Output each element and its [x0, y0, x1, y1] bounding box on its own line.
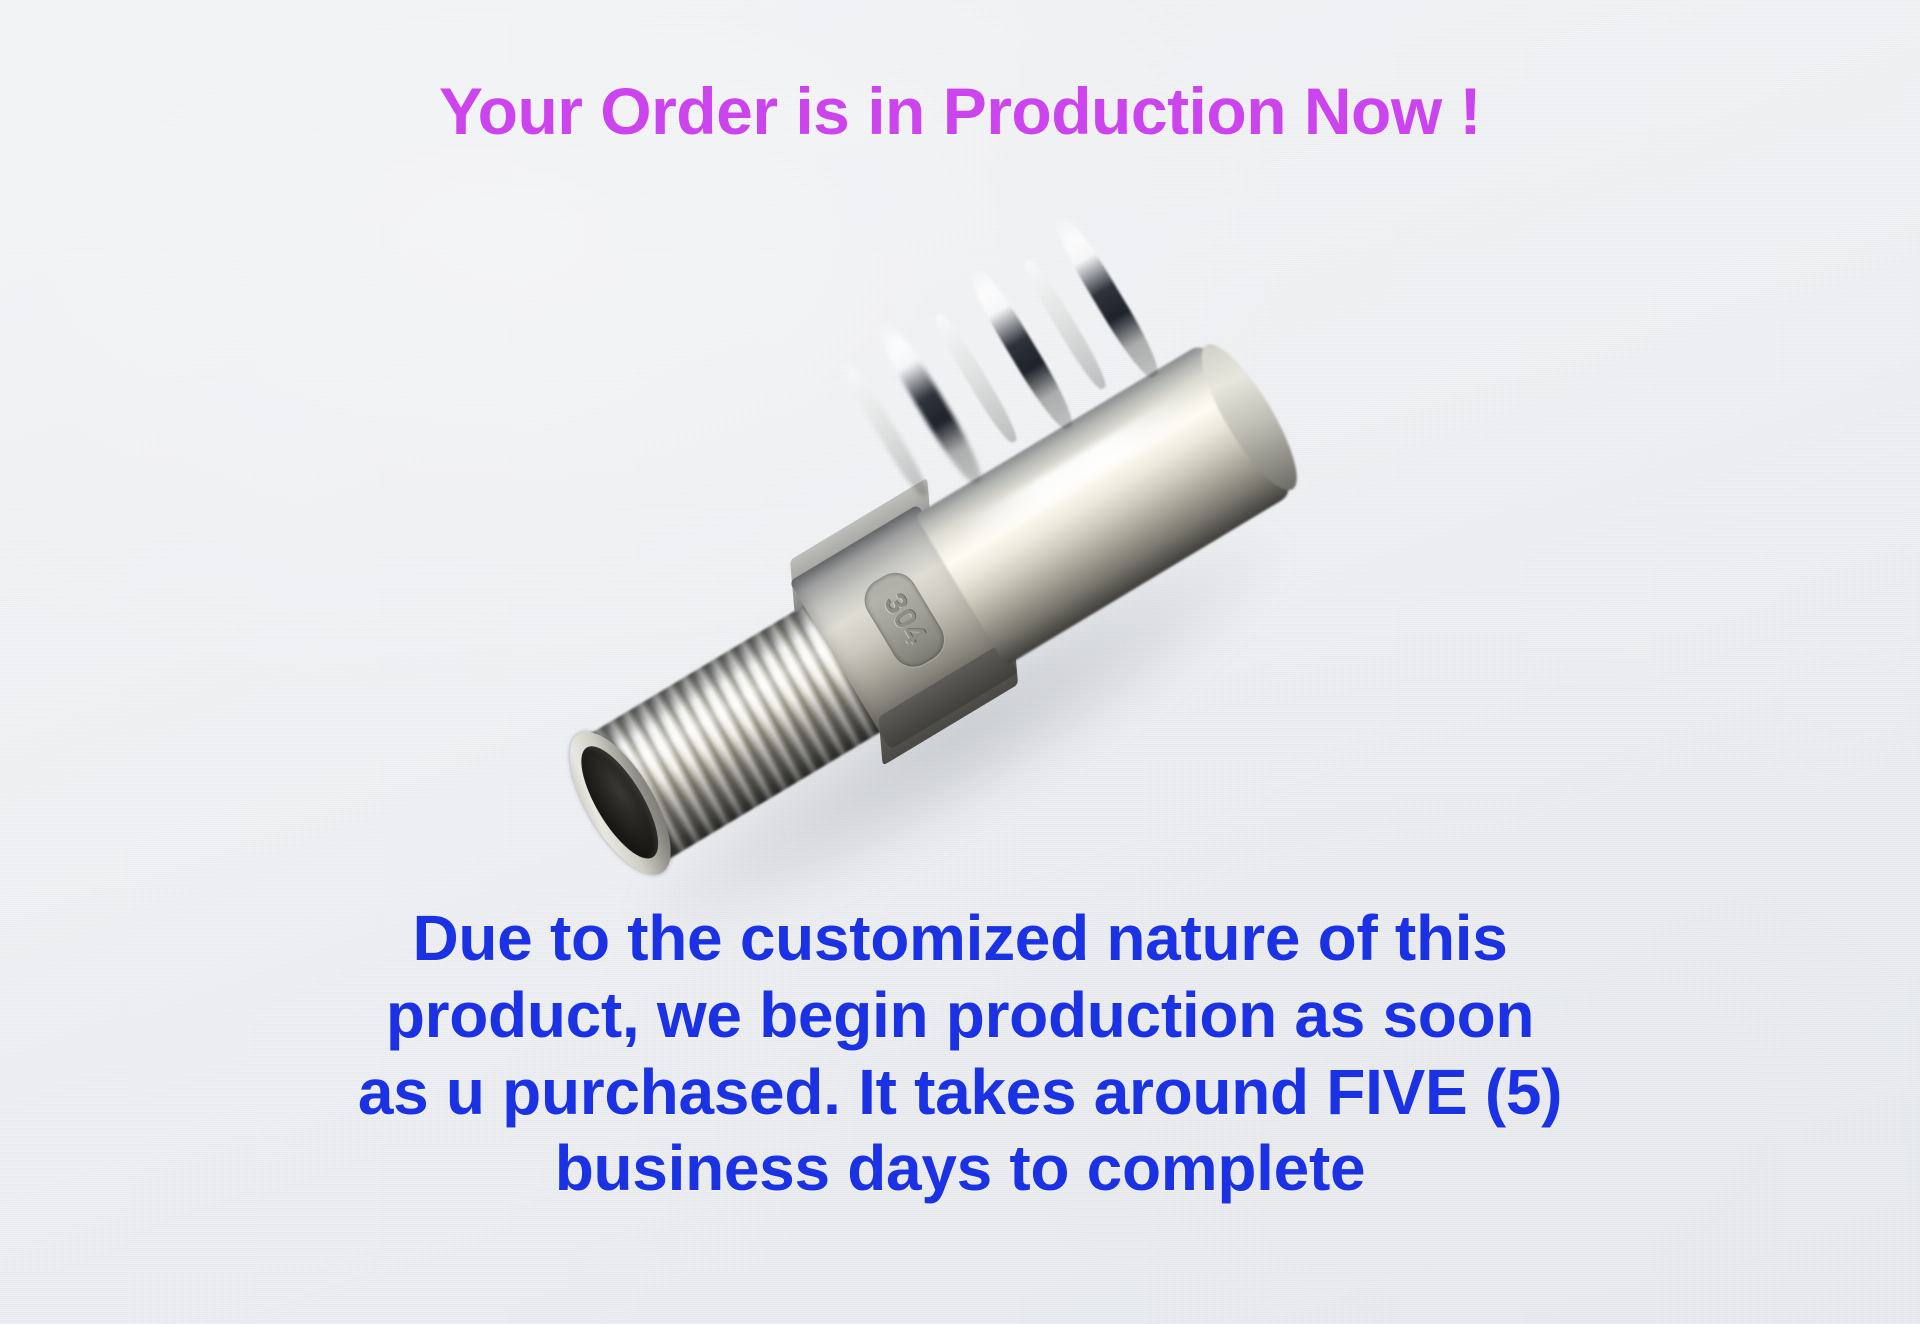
headline-text: Your Order is in Production Now ! [0, 78, 1920, 145]
body-copy: Due to the customized nature of this pro… [0, 900, 1920, 1207]
body-copy-line-2: product, we begin production as soon [0, 977, 1920, 1054]
barb-ridge-1 [872, 318, 989, 489]
barb-ridge-2 [963, 263, 1080, 434]
product-photo: 304 [560, 360, 1420, 880]
promo-banner: Your Order is in Production Now ! 304 [0, 0, 1920, 1324]
body-copy-line-1: Due to the customized nature of this [0, 900, 1920, 977]
body-copy-line-4: business days to complete [0, 1130, 1920, 1207]
body-copy-line-3: as u purchased. It takes around FIVE (5) [0, 1054, 1920, 1131]
barb-ridge-3 [1049, 212, 1166, 383]
